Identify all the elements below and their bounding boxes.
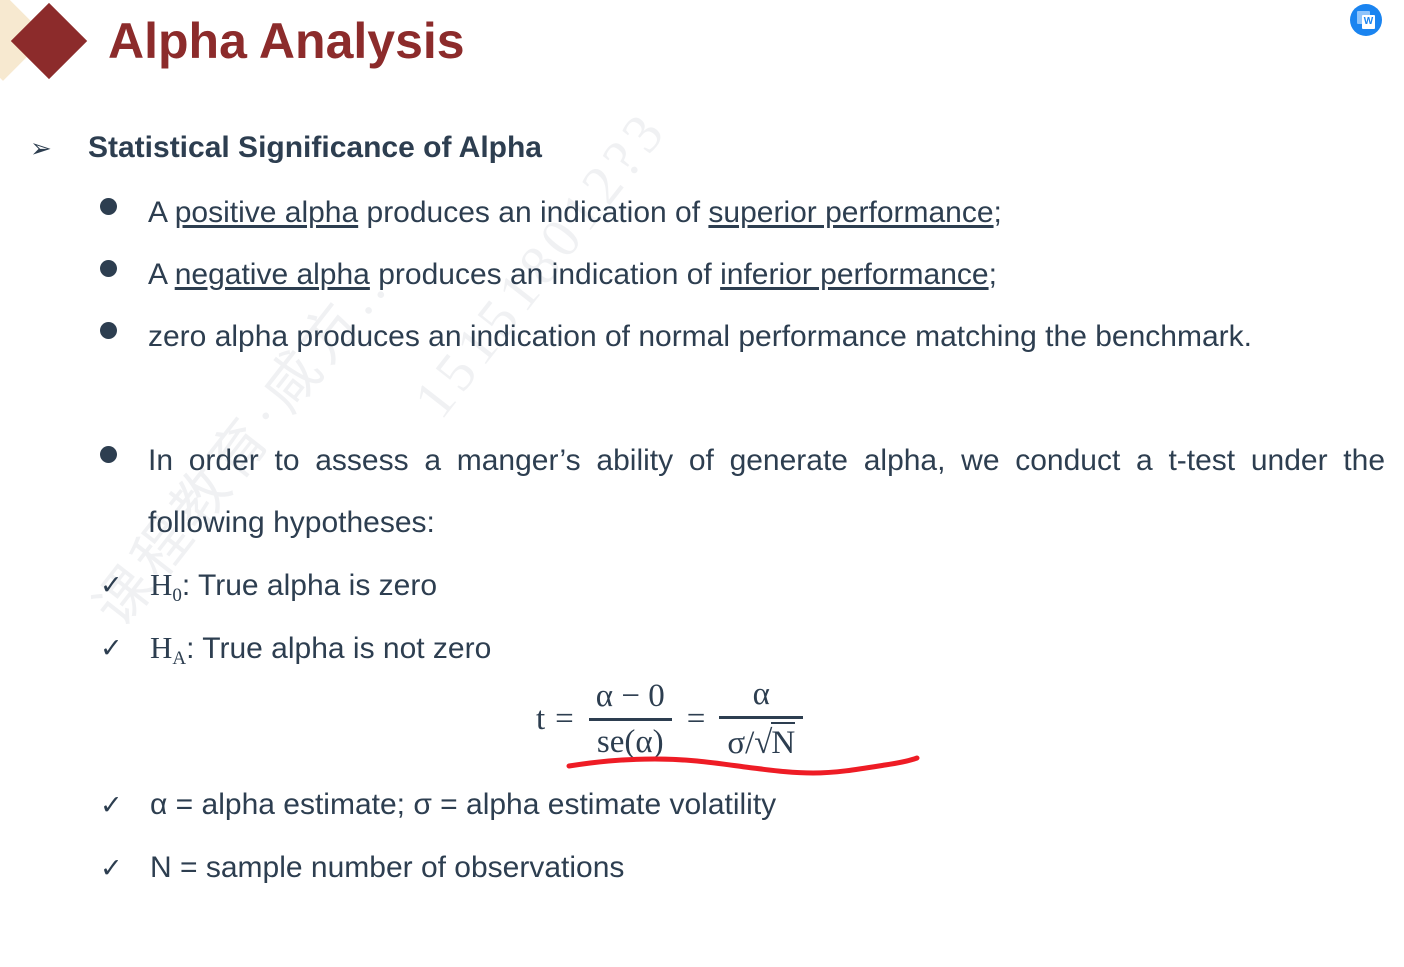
radicand: N xyxy=(771,722,795,762)
fraction-1: α − 0 se(α) xyxy=(588,678,673,761)
slide-title-bar: Alpha Analysis xyxy=(0,0,1404,100)
t-statistic-formula: t = α − 0 se(α) = α σ/√N xyxy=(536,676,807,762)
check-bullet-icon: ✓ xyxy=(100,782,122,828)
list-item-text: HA: True alpha is not zero xyxy=(150,625,491,676)
formula-lhs: t xyxy=(536,701,545,738)
list-item: A positive alpha produces an indication … xyxy=(100,182,1002,244)
list-item-text: N = sample number of observations xyxy=(150,845,624,891)
document-front-letter: W xyxy=(1362,15,1375,29)
list-item: In order to assess a manger’s ability of… xyxy=(100,430,1385,554)
list-item: ✓ N = sample number of observations xyxy=(100,845,624,891)
underlined-phrase: superior performance xyxy=(708,196,993,229)
list-item: ✓ H0: True alpha is zero xyxy=(100,562,437,613)
round-bullet-icon xyxy=(100,260,117,277)
list-item: ✓ HA: True alpha is not zero xyxy=(100,625,491,676)
formula-equals-2: = xyxy=(687,701,706,738)
hypothesis-symbol: HA xyxy=(150,630,186,665)
page-title: Alpha Analysis xyxy=(108,12,465,70)
hypothesis-symbol: H0 xyxy=(150,567,182,602)
check-bullet-icon: ✓ xyxy=(100,625,122,671)
check-bullet-icon: ✓ xyxy=(100,562,122,608)
check-bullet-icon: ✓ xyxy=(100,845,122,891)
round-bullet-icon xyxy=(100,446,117,463)
list-item-text: α = alpha estimate; σ = alpha estimate v… xyxy=(150,782,776,828)
fraction-2: α σ/√N xyxy=(719,676,803,762)
section-heading: ➢ Statistical Significance of Alpha xyxy=(30,128,542,168)
formula-equals-1: = xyxy=(555,701,574,738)
fraction-2-numerator: α xyxy=(745,676,778,716)
list-item: ✓ α = alpha estimate; σ = alpha estimate… xyxy=(100,782,776,828)
wps-writer-icon[interactable]: W xyxy=(1350,4,1382,36)
list-item: zero alpha produces an indication of nor… xyxy=(100,306,1370,368)
radical-sign: √ xyxy=(754,725,772,761)
underlined-phrase: negative alpha xyxy=(175,258,370,291)
fraction-1-denominator: se(α) xyxy=(589,718,672,761)
section-heading-label: Statistical Significance of Alpha xyxy=(88,128,542,168)
fraction-2-denominator: σ/√N xyxy=(719,716,803,762)
round-bullet-icon xyxy=(100,198,117,215)
underlined-phrase: positive alpha xyxy=(175,196,358,229)
arrow-bullet-icon: ➢ xyxy=(30,128,88,168)
list-item-text: In order to assess a manger’s ability of… xyxy=(148,430,1385,554)
round-bullet-icon xyxy=(100,322,117,339)
list-item-text: H0: True alpha is zero xyxy=(150,562,437,613)
list-item-text: A positive alpha produces an indication … xyxy=(148,182,1002,244)
list-item-text: A negative alpha produces an indication … xyxy=(148,244,997,306)
underlined-phrase: inferior performance xyxy=(720,258,988,291)
list-item-text: zero alpha produces an indication of nor… xyxy=(148,306,1252,368)
fraction-1-numerator: α − 0 xyxy=(588,678,673,718)
list-item: A negative alpha produces an indication … xyxy=(100,244,997,306)
